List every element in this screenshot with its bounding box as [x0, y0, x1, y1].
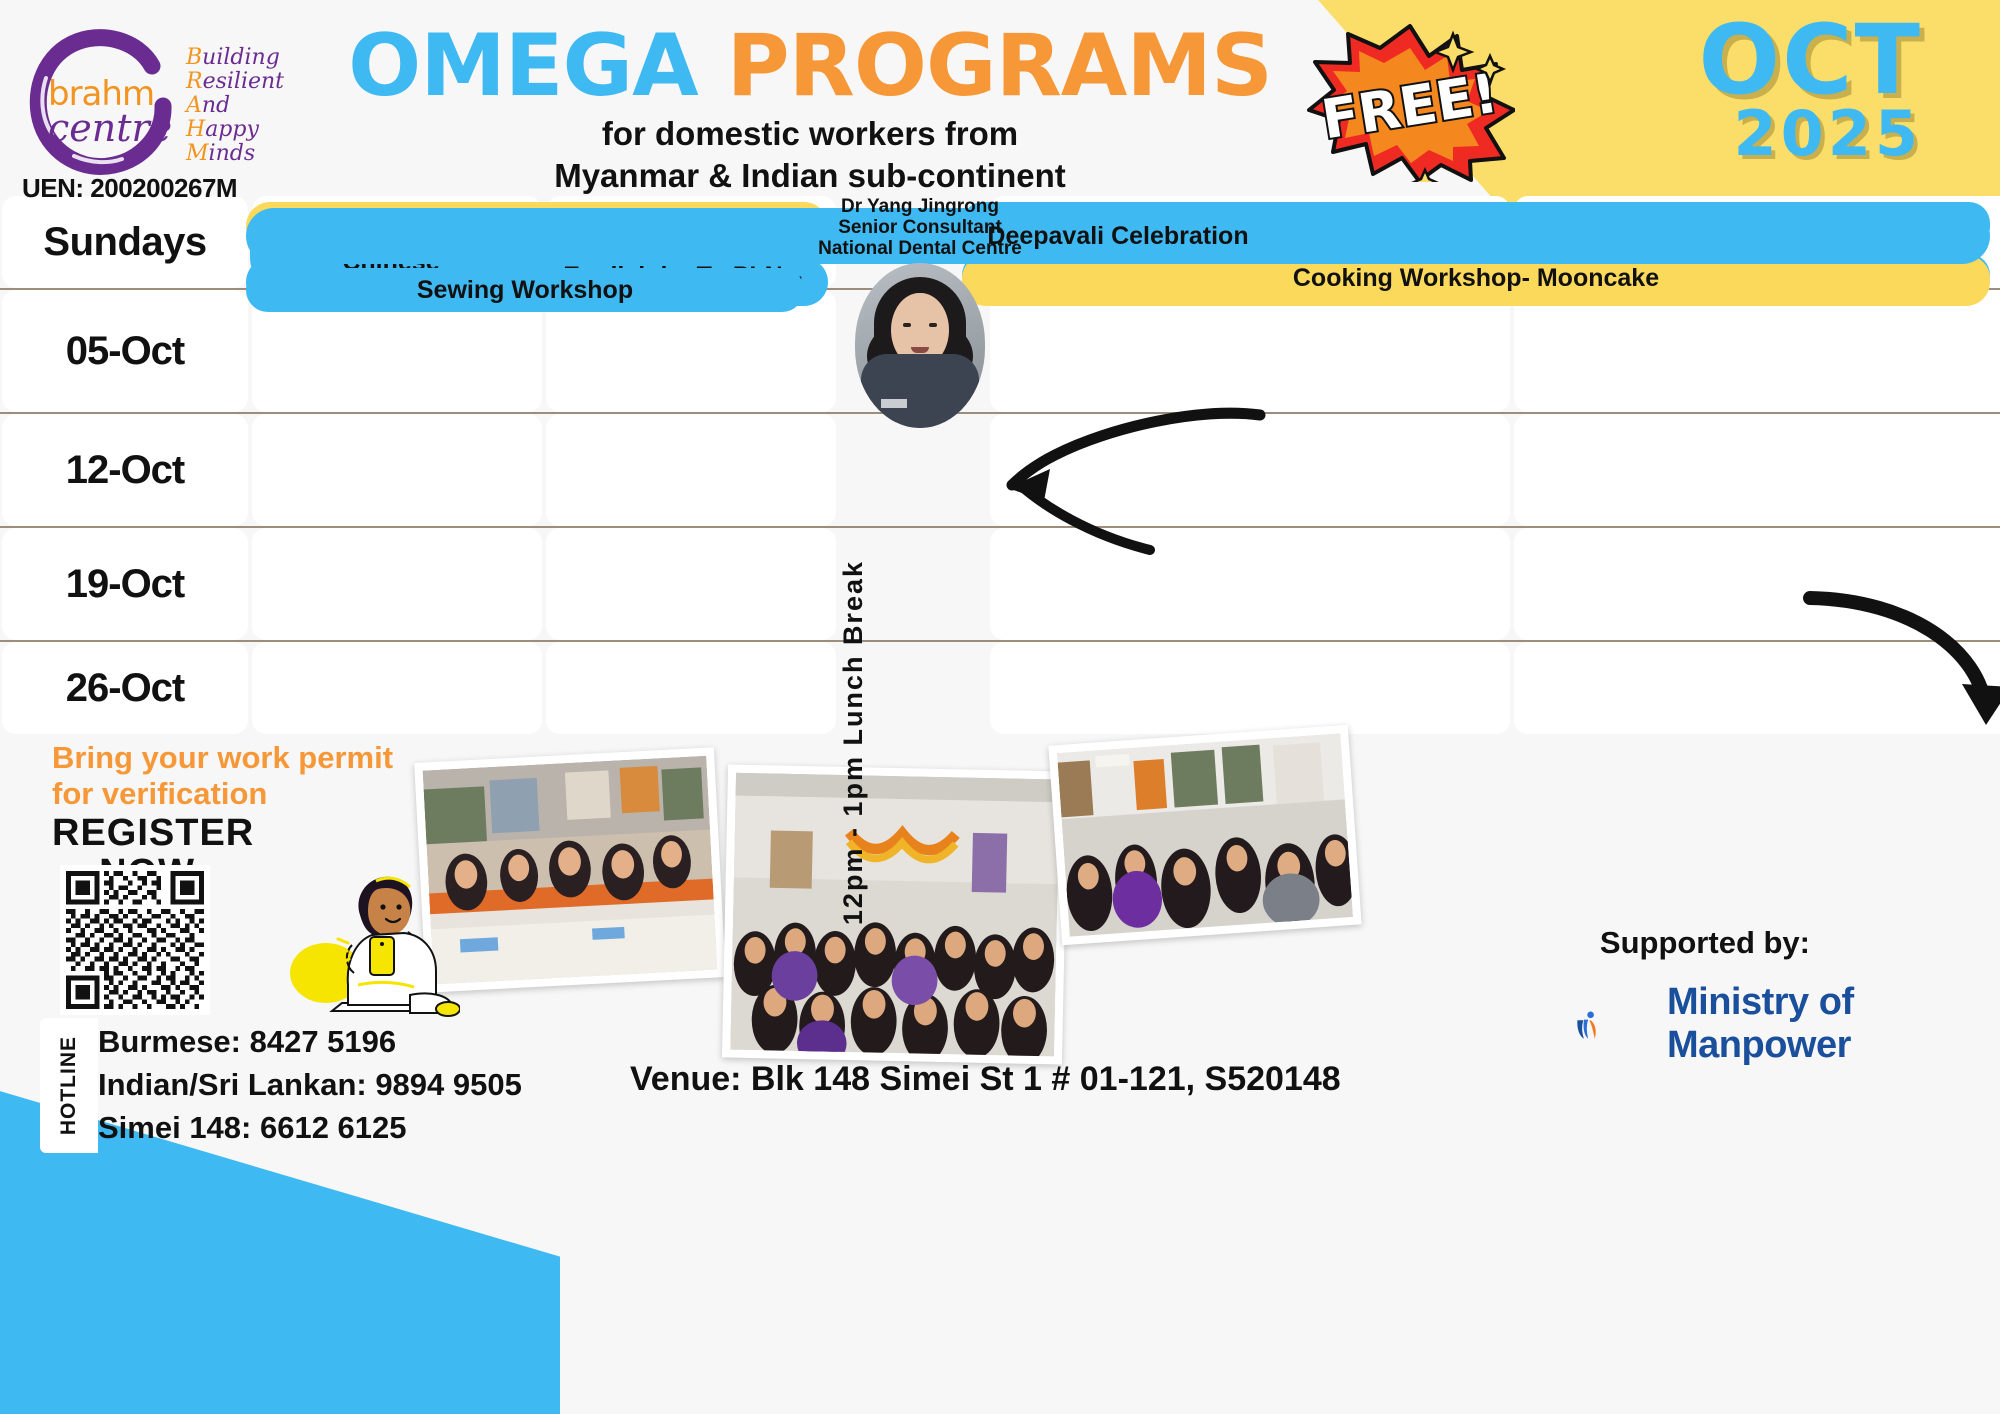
row2-slot2: [546, 528, 836, 640]
photo-classroom-tables: [423, 756, 718, 985]
ministry-of-manpower-logo: Ministry of Manpower: [1575, 975, 1875, 1075]
row2-slot4: [1514, 528, 2000, 640]
tagline-suffix-5: inds: [209, 141, 256, 166]
title-omega: OMEGA: [348, 16, 727, 116]
bring-permit-note: Bring your work permit for verification: [52, 740, 393, 812]
row2-slot3: [990, 528, 1510, 640]
row0-slot4: [1514, 290, 2000, 412]
hotline-line-2[interactable]: Indian/Sri Lankan: 9894 9505: [98, 1063, 522, 1106]
uen-number: UEN: 200200267M: [22, 173, 237, 204]
row-date-label: 19-Oct: [66, 562, 185, 607]
row1-slot3: [990, 414, 1510, 526]
row-date-label: 26-Oct: [66, 666, 185, 711]
row1-slot1: [252, 414, 542, 526]
row-date-cell: 26-Oct: [2, 642, 248, 734]
bring-permit-line-1: Bring your work permit: [52, 740, 393, 776]
day-header-label: Sundays: [43, 220, 206, 265]
page-title: OMEGA PROGRAMS: [310, 20, 1310, 112]
event-photo-3: [1048, 725, 1361, 945]
row-date-cell: 12-Oct: [2, 414, 248, 526]
hotline-line-3[interactable]: Simei 148: 6612 6125: [98, 1106, 522, 1149]
row3-slot4: [1514, 642, 2000, 734]
brahm-centre-logo: brahm centre Building Resilient And Happ…: [18, 18, 338, 188]
hotline-tab-label: HOTLINE: [57, 1036, 81, 1135]
table-row: 12-Oct Basic Conversational Chinese Basi…: [0, 414, 2000, 528]
title-block: OMEGA PROGRAMS for domestic workers from…: [310, 20, 1310, 196]
event-photo-1: [414, 747, 726, 992]
row0-lunch: [840, 290, 986, 412]
brand-tagline: Building Resilient And Happy Minds: [186, 46, 284, 166]
mom-name-line-1: Ministry of: [1667, 981, 1854, 1024]
hotline-tab: HOTLINE: [40, 1018, 98, 1153]
row3-slot1: [252, 642, 542, 734]
table-row: 19-Oct Basic Conversational English by T…: [0, 528, 2000, 642]
row3-slot2: [546, 642, 836, 734]
row3-slot3: [990, 642, 1510, 734]
table-row: 26-Oct Deepavali Celebration: [0, 642, 2000, 734]
session-pill[interactable]: Sewing Workshop: [246, 268, 804, 312]
lunch-break-label: 12pm - 1pm Lunch Break: [836, 560, 956, 925]
qr-code-image: [66, 871, 204, 1009]
hotline-panel: HOTLINE Burmese: 8427 5196 Indian/Sri La…: [40, 1018, 485, 1153]
register-line-1: REGISTER: [52, 813, 242, 853]
row1-slot2: [546, 414, 836, 526]
venue-text: Venue: Blk 148 Simei St 1 # 01-121, S520…: [630, 1060, 1341, 1099]
free-badge-icon: FREE!: [1305, 22, 1515, 182]
hotline-line-1[interactable]: Burmese: 8427 5196: [98, 1020, 522, 1063]
poster-header: brahm centre Building Resilient And Happ…: [0, 0, 2000, 200]
tagline-suffix-2: esilient: [203, 69, 284, 94]
row-date-cell: 05-Oct: [2, 290, 248, 412]
row1-lunch: [840, 414, 986, 526]
subtitle-line-2: Myanmar & Indian sub-continent: [310, 156, 1310, 196]
tagline-suffix-3: nd: [202, 93, 230, 118]
row-date-label: 12-Oct: [66, 448, 185, 493]
qr-code[interactable]: [60, 865, 210, 1015]
poster-footer: Bring your work permit for verification …: [0, 735, 2000, 1414]
tagline-suffix-4: appy: [205, 117, 259, 142]
schedule-day-header: Sundays: [2, 196, 248, 288]
row-date-cell: 19-Oct: [2, 528, 248, 640]
row2-slot1: [252, 528, 542, 640]
month-label: OCT: [1698, 16, 1922, 104]
illustration-woman-with-phone: [290, 845, 460, 1025]
subtitle-line-1: for domestic workers from: [310, 114, 1310, 154]
mom-mark-icon: [1575, 975, 1665, 1075]
month-year-block: OCT 2025: [1698, 16, 1922, 164]
schedule-table: Sundays 10am–11am 11am–12pm 1pm-2:30pm 2…: [0, 196, 2000, 734]
session-pill[interactable]: Deepavali Celebration: [246, 208, 1990, 264]
row1-slot4: [1514, 414, 2000, 526]
tagline-suffix-1: uilding: [202, 45, 280, 70]
logo-word-centre: centre: [48, 106, 172, 150]
bring-permit-line-2: for verification: [52, 776, 393, 812]
row0-slot3: [990, 290, 1510, 412]
hotline-numbers: Burmese: 8427 5196 Indian/Sri Lankan: 98…: [98, 1020, 522, 1149]
mom-name: Ministry of Manpower: [1667, 981, 1854, 1067]
row-date-label: 05-Oct: [66, 329, 185, 374]
mom-name-line-2: Manpower: [1667, 1024, 1854, 1067]
photo-workshop: [1057, 733, 1353, 936]
supported-by-label: Supported by:: [1600, 925, 1810, 961]
title-programs: PROGRAMS: [727, 16, 1272, 116]
